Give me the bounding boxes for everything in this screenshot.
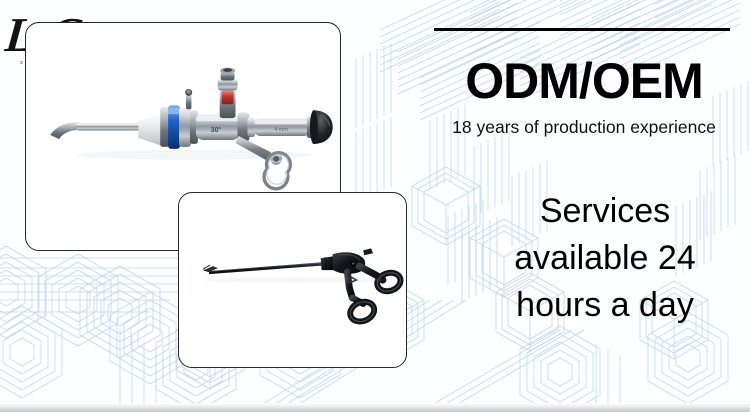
promo-banner: LeGou S e r v i c e A n d Q u a l i t y (0, 0, 750, 412)
product-photo-laparoscopic-instrument (179, 193, 406, 367)
services-line-2: available 24 (466, 235, 744, 282)
bottom-gradient-strip (0, 403, 750, 412)
svg-text:30°: 30° (211, 126, 222, 134)
services-statement: Services available 24 hours a day (466, 188, 744, 329)
services-line-1: Services (466, 188, 744, 235)
headline-divider (434, 28, 730, 31)
subheadline-experience: 18 years of production experience (424, 117, 744, 137)
headline-odm-oem: ODM/OEM (434, 55, 734, 107)
svg-text:4 mm: 4 mm (274, 127, 288, 133)
services-line-3: hours a day (466, 282, 744, 329)
product-panel-secondary (178, 192, 407, 368)
